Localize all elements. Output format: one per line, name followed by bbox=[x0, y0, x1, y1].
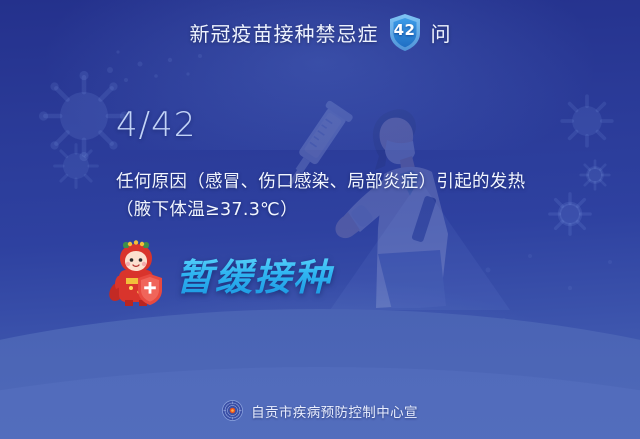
poster-header: 新冠疫苗接种禁忌症 42 问 bbox=[0, 0, 640, 64]
dragon-mascot-icon bbox=[106, 240, 168, 308]
footer-organization: 自贡市疾病预防控制中心宣 bbox=[251, 401, 418, 421]
question-counter: 4/42 bbox=[116, 108, 196, 142]
shield-icon: 42 bbox=[388, 13, 422, 52]
poster-footer: 自贡市疾病预防控制中心宣 bbox=[0, 400, 640, 421]
cdc-seal-icon bbox=[222, 400, 243, 421]
answer-highlight: 暂缓接种 bbox=[176, 247, 336, 301]
page-title: 新冠疫苗接种禁忌症 bbox=[190, 18, 379, 47]
virus-particle-icon bbox=[556, 90, 618, 152]
answer-row: 暂缓接种 bbox=[106, 240, 336, 308]
question-body: 任何原因（感冒、伤口感染、局部炎症）引起的发热 （腋下体温≥37.3℃） bbox=[116, 168, 586, 224]
question-body-line-2: （腋下体温≥37.3℃） bbox=[116, 196, 586, 224]
question-body-line-1: 任何原因（感冒、伤口感染、局部炎症）引起的发热 bbox=[116, 168, 586, 196]
page-title-suffix: 问 bbox=[431, 18, 451, 47]
badge-number: 42 bbox=[388, 13, 422, 47]
poster-canvas: 新冠疫苗接种禁忌症 42 问 4/42 任何原因（感冒、伤口感染、局部炎症） bbox=[0, 0, 640, 439]
virus-particle-icon bbox=[50, 140, 102, 192]
